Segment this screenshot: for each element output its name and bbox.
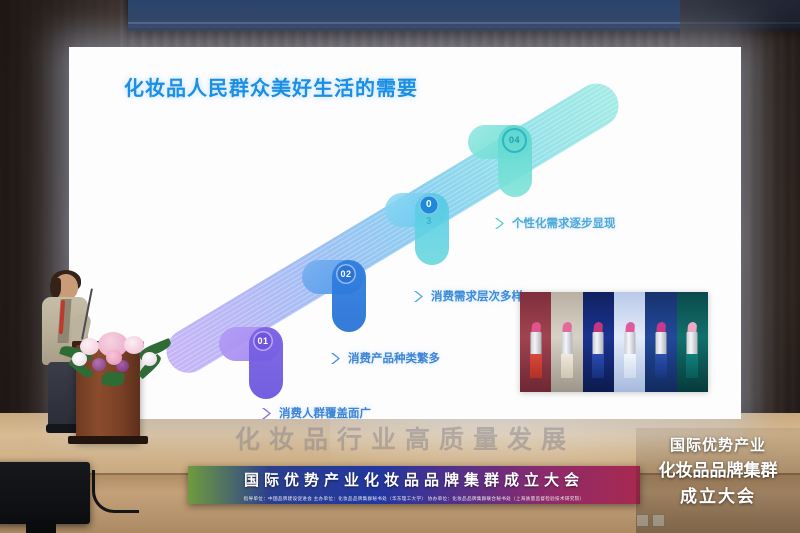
step-02[interactable]: 02	[302, 260, 366, 332]
stage-banner: 国际优势产业化妆品品牌集群成立大会 指导单位：中国品牌建设促进会 主办单位：化妆…	[188, 466, 640, 504]
step-02-label-row: 消费产品种类繁多	[330, 350, 440, 366]
chevron-right-icon	[261, 407, 272, 420]
lipstick-base	[624, 354, 636, 378]
step-04-badge: 04	[502, 128, 527, 153]
step-02-label: 消费产品种类繁多	[348, 350, 440, 366]
lipstick-item	[520, 292, 551, 392]
lipstick-item	[583, 292, 614, 392]
side-banner-line-3: 成立大会	[636, 482, 800, 507]
chevron-right-icon	[330, 352, 341, 365]
flower	[142, 352, 157, 366]
flower	[106, 350, 122, 365]
cable	[92, 470, 139, 513]
lipstick-item	[551, 292, 582, 392]
step-03[interactable]: 0 3	[385, 193, 449, 265]
podium-base	[68, 436, 148, 444]
flower	[72, 352, 87, 366]
side-banner: 国际优势产业 化妆品品牌集群 成立大会	[636, 428, 800, 533]
lipstick-base	[530, 354, 542, 378]
chevron-right-icon	[413, 290, 424, 303]
step-04-label-row: 个性化需求逐步显现	[494, 215, 616, 231]
lipstick-base	[561, 354, 573, 378]
lipstick-item	[677, 292, 708, 392]
lipstick-item	[645, 292, 676, 392]
stage-banner-organizers: 指导单位：中国品牌建设促进会 主办单位：化妆品品牌集群秘书处（华东理工大学） 协…	[188, 496, 640, 502]
side-banner-line-2: 化妆品品牌集群	[636, 456, 800, 481]
lipstick-base	[592, 354, 604, 378]
step-01-badge: 01	[253, 331, 273, 351]
chevron-right-icon	[494, 217, 505, 230]
projection-screen: 化妆品人民群众美好生活的需要 01 02	[69, 47, 741, 419]
lipstick-item	[614, 292, 645, 392]
step-03-badge: 0	[419, 195, 439, 215]
step-03-label-row: 消费需求层次多样	[413, 288, 523, 304]
lipstick-base	[686, 354, 698, 378]
leaf	[101, 371, 125, 388]
step-04-label: 个性化需求逐步显现	[512, 215, 616, 231]
step-02-badge: 02	[336, 264, 356, 284]
step-01[interactable]: 01	[219, 327, 283, 399]
presenter-hair-side	[50, 278, 61, 298]
step-01-label: 消费人群覆盖面广	[279, 405, 371, 419]
side-banner-line-1: 国际优势产业	[636, 434, 800, 455]
confidence-monitor	[0, 462, 90, 524]
slide: 化妆品人民群众美好生活的需要 01 02	[69, 47, 741, 419]
floral-arrangement	[64, 322, 169, 386]
conference-photo: 化妆品人民群众美好生活的需要 01 02	[0, 0, 800, 533]
flower	[124, 336, 144, 354]
lipstick-base	[655, 354, 667, 378]
stage-banner-title: 国际优势产业化妆品品牌集群成立大会	[188, 469, 640, 490]
lipstick-product-photo	[520, 292, 708, 392]
step-03-label: 消费需求层次多样	[431, 288, 523, 304]
presenter-shoes	[46, 424, 80, 433]
step-01-label-row: 消费人群覆盖面广	[261, 405, 371, 419]
flower	[92, 358, 106, 371]
monitor-stand	[26, 520, 56, 533]
step-04[interactable]: 04	[468, 125, 532, 197]
step-03-badge-second-digit: 3	[419, 214, 439, 230]
